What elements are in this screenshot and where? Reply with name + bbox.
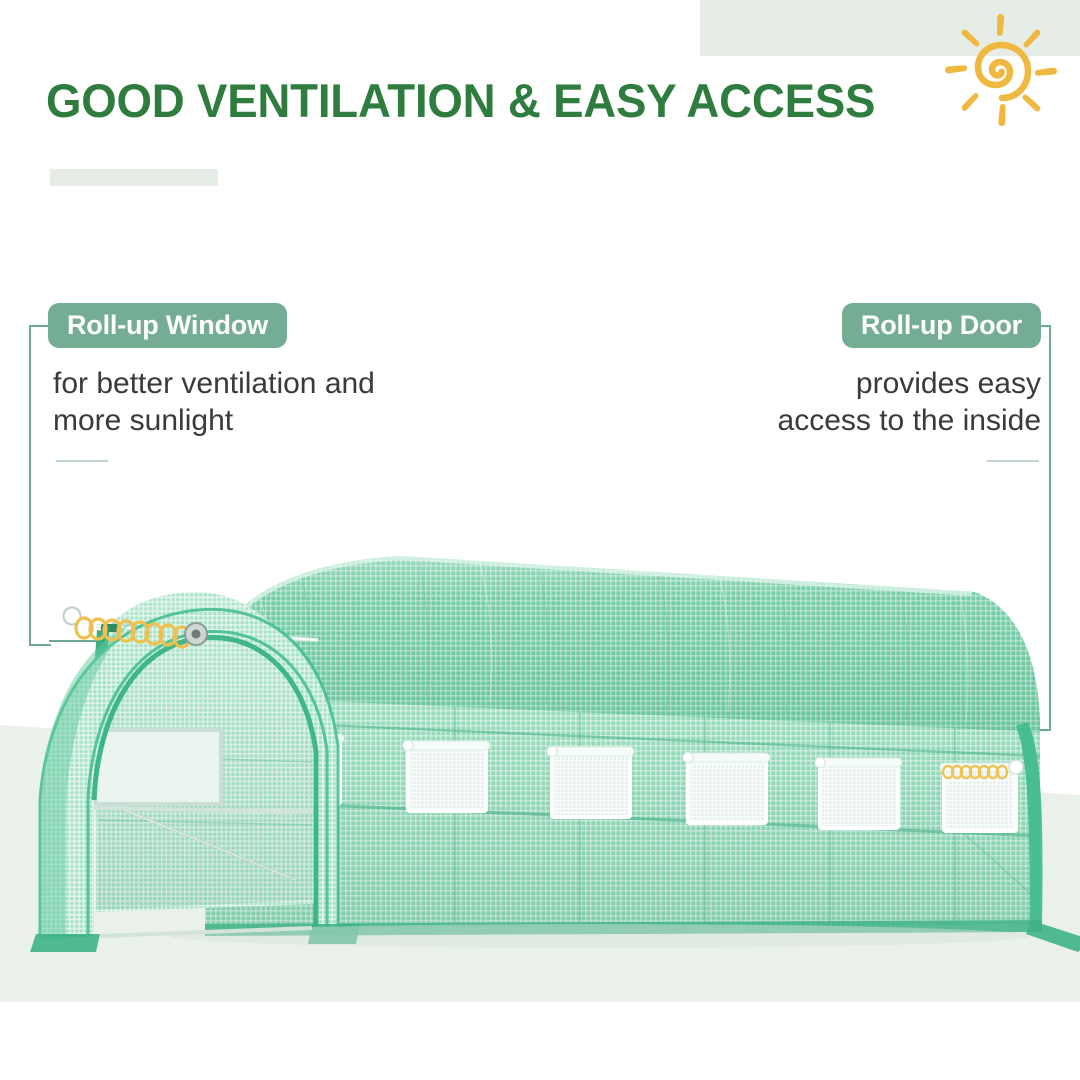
callout-label-roll-up-door: Roll-up Door [861, 310, 1022, 341]
title-accent-bar [50, 169, 218, 186]
callout-underline-right [987, 460, 1039, 462]
callout-chip-roll-up-door[interactable]: Roll-up Door [842, 303, 1041, 348]
page-title: GOOD VENTILATION & EASY ACCESS [46, 76, 875, 125]
callout-chip-roll-up-window[interactable]: Roll-up Window [48, 303, 287, 348]
roll-up-window [547, 746, 634, 817]
callout-description-roll-up-door: provides easy access to the inside [778, 366, 1041, 440]
callout-description-roll-up-window: for better ventilation and more sunlight [53, 366, 375, 440]
sun-spiral-icon [938, 6, 1066, 134]
roll-up-window [403, 740, 490, 811]
infographic-canvas: GOOD VENTILATION & EASY ACCESS Roll-up W… [0, 0, 1080, 1080]
roll-up-window [683, 752, 770, 823]
callout-label-roll-up-window: Roll-up Window [67, 310, 268, 341]
callout-underline-left [56, 460, 108, 462]
roll-up-window [815, 757, 902, 828]
front-left-foot [30, 934, 100, 952]
roll-up-window [940, 760, 1023, 831]
product-illustration-greenhouse [0, 500, 1080, 1080]
front-clear-window [95, 730, 221, 804]
